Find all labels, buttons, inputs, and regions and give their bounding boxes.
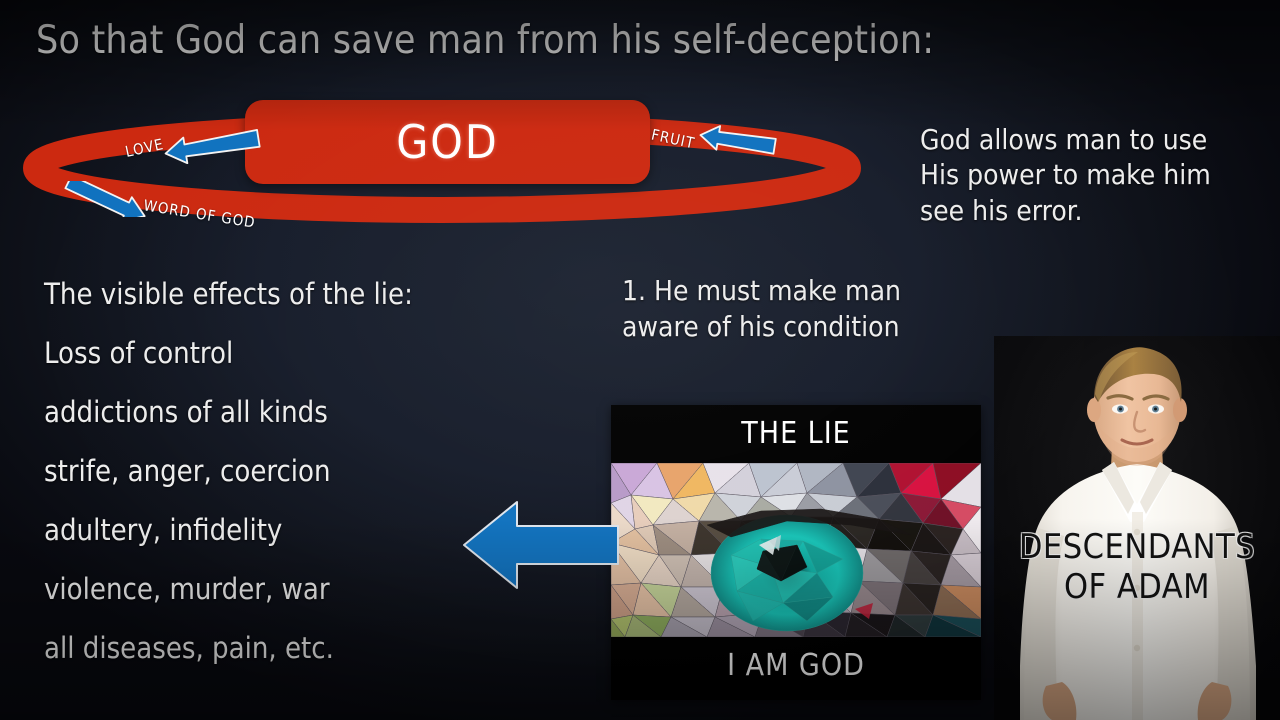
mosaic-eye-svg [611, 463, 981, 637]
person-label-line-2: OF ADAM [994, 568, 1280, 608]
love-arrow-icon [163, 128, 263, 164]
mosaic-eye-image [611, 463, 981, 637]
the-lie-caption-top: THE LIE [611, 405, 981, 463]
right-note-line-3: see his error. [920, 193, 1270, 228]
slide-canvas: So that God can save man from his self-d… [0, 0, 1280, 720]
page-title: So that God can save man from his self-d… [36, 20, 934, 63]
left-pointing-arrow-icon [460, 495, 620, 595]
point-one: 1. He must make man aware of his conditi… [622, 273, 962, 345]
effects-item: all diseases, pain, etc. [44, 626, 464, 685]
descendants-of-adam-photo: DESCENDANTS OF ADAM [994, 336, 1280, 720]
right-note-line-2: His power to make him [920, 157, 1270, 192]
effects-item: adultery, infidelity [44, 508, 464, 567]
right-note-line-1: God allows man to use [920, 122, 1270, 157]
effects-item: Loss of control [44, 331, 464, 390]
the-lie-caption-bottom: I AM GOD [611, 637, 981, 700]
word-of-god-arrow-icon [60, 181, 150, 217]
descendants-of-adam-label: DESCENDANTS OF ADAM [994, 528, 1280, 608]
the-lie-card: THE LIE [611, 405, 981, 700]
god-box: GOD [245, 100, 650, 184]
point-one-line-1: 1. He must make man [622, 273, 962, 309]
effects-item: addictions of all kinds [44, 390, 464, 449]
effects-item: violence, murder, war [44, 567, 464, 626]
right-note: God allows man to use His power to make … [920, 122, 1270, 228]
god-box-label: GOD [396, 115, 499, 169]
effects-list: The visible effects of the lie: Loss of … [44, 272, 464, 685]
effects-heading: The visible effects of the lie: [44, 272, 464, 331]
person-label-line-1: DESCENDANTS [994, 528, 1280, 568]
fruit-arrow-icon [698, 124, 778, 158]
point-one-line-2: aware of his condition [622, 309, 962, 345]
effects-item: strife, anger, coercion [44, 449, 464, 508]
